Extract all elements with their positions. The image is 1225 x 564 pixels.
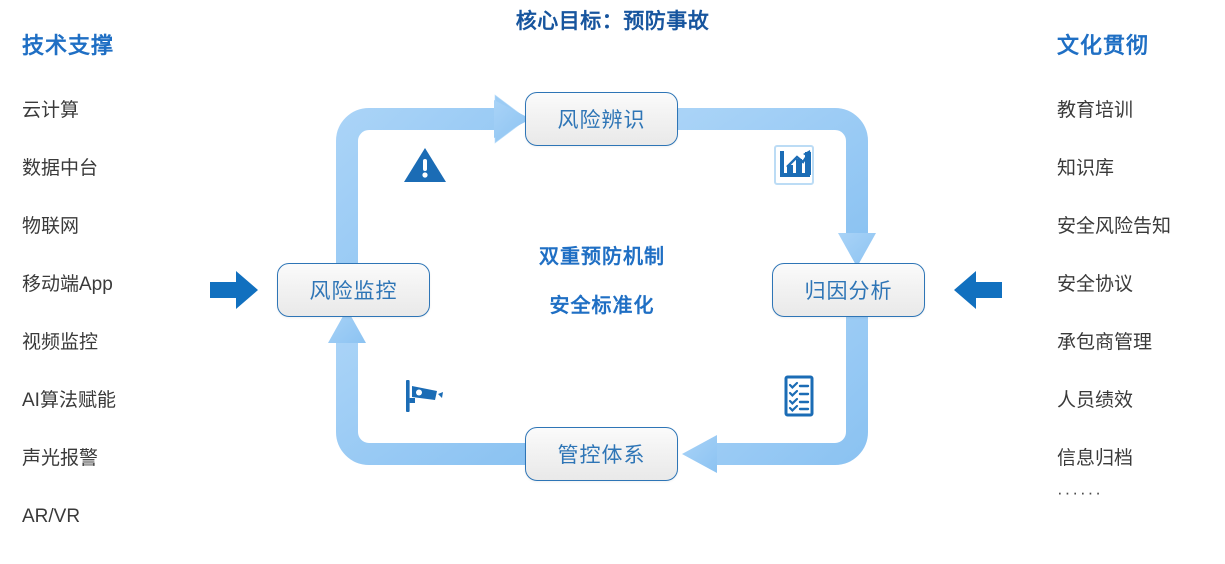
checklist-clipboard-icon <box>775 372 823 420</box>
list-item: 安全风险告知 <box>1057 216 1225 238</box>
list-item: 信息归档 <box>1057 448 1225 470</box>
surveillance-camera-icon <box>400 372 448 420</box>
left-column: 技术支撑 云计算 数据中台 物联网 移动端App 视频监控 AI算法赋能 声光报… <box>22 0 252 546</box>
list-item: 人员绩效 <box>1057 390 1225 412</box>
arrow-left-icon <box>952 266 1004 314</box>
cycle-node-risk-monitoring[interactable]: 风险监控 <box>277 263 430 317</box>
list-item: 物联网 <box>22 216 252 238</box>
list-item: 云计算 <box>22 100 252 122</box>
warning-triangle-icon <box>401 141 449 189</box>
right-column: 文化贯彻 教育培训 知识库 安全风险告知 安全协议 承包商管理 人员绩效 信息归… <box>1057 0 1225 546</box>
bar-chart-trend-icon <box>770 141 818 189</box>
right-column-list: 教育培训 知识库 安全风险告知 安全协议 承包商管理 人员绩效 信息归档 ···… <box>1057 100 1225 540</box>
list-item: 知识库 <box>1057 158 1225 180</box>
cycle-node-cause-analysis[interactable]: 归因分析 <box>772 263 925 317</box>
list-ellipsis: ······ <box>1057 482 1225 504</box>
center-caption-line-2: 安全标准化 <box>482 289 722 318</box>
list-item: AI算法赋能 <box>22 390 252 412</box>
list-item: 移动端App <box>22 274 252 296</box>
center-caption-line-1: 双重预防机制 <box>482 240 722 269</box>
list-item: AR/VR <box>22 506 252 528</box>
flow-arrow-right-to-bottom <box>682 317 857 473</box>
list-item: 教育培训 <box>1057 100 1225 122</box>
left-column-title: 技术支撑 <box>22 28 114 60</box>
list-item: 声光报警 <box>22 448 252 470</box>
list-item: 承包商管理 <box>1057 332 1225 354</box>
list-item: 安全协议 <box>1057 274 1225 296</box>
cycle-node-control-system[interactable]: 管控体系 <box>525 427 678 481</box>
list-item: 视频监控 <box>22 332 252 354</box>
right-column-title: 文化贯彻 <box>1057 28 1149 60</box>
list-item: 数据中台 <box>22 158 252 180</box>
center-caption: 双重预防机制 安全标准化 <box>482 240 722 318</box>
cycle-node-risk-identification[interactable]: 风险辨识 <box>525 92 678 146</box>
left-column-list: 云计算 数据中台 物联网 移动端App 视频监控 AI算法赋能 声光报警 AR/… <box>22 100 252 564</box>
